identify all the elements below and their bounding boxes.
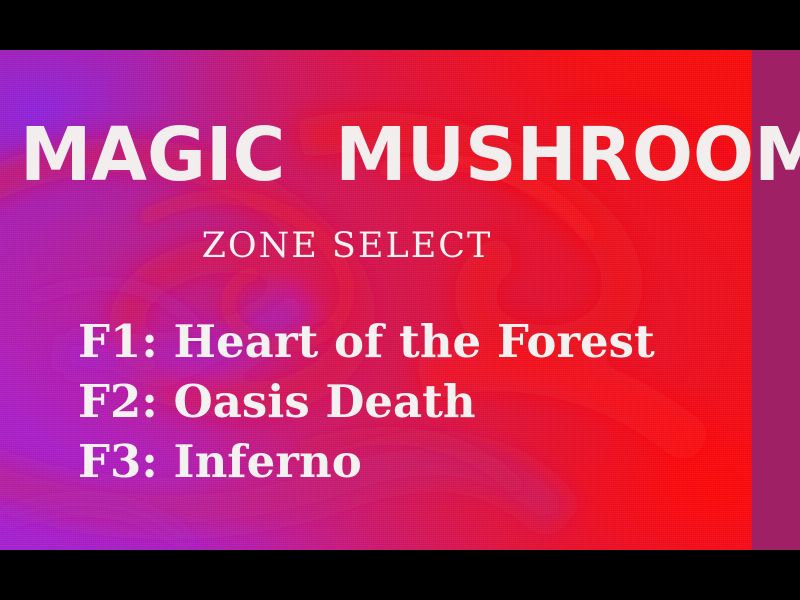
zone-select-menu: F1: Heart of the Forest F2: Oasis Death …: [78, 318, 655, 498]
letterbox-bar-bottom: [0, 550, 800, 600]
zone-menu-item-f3[interactable]: F3: Inferno: [78, 438, 655, 498]
letterbox-bar-top: [0, 0, 800, 50]
zone-menu-item-f2[interactable]: F2: Oasis Death: [78, 378, 655, 438]
game-title: MAGIC MUSHROOM: [20, 118, 720, 192]
menu-text-layer: MAGIC MUSHROOM ZONE SELECT F1: Heart of …: [0, 0, 800, 500]
zone-menu-item-f1[interactable]: F1: Heart of the Forest: [78, 318, 655, 378]
game-screen: MAGIC MUSHROOM ZONE SELECT F1: Heart of …: [0, 0, 800, 600]
zone-select-heading: ZONE SELECT: [0, 229, 694, 264]
